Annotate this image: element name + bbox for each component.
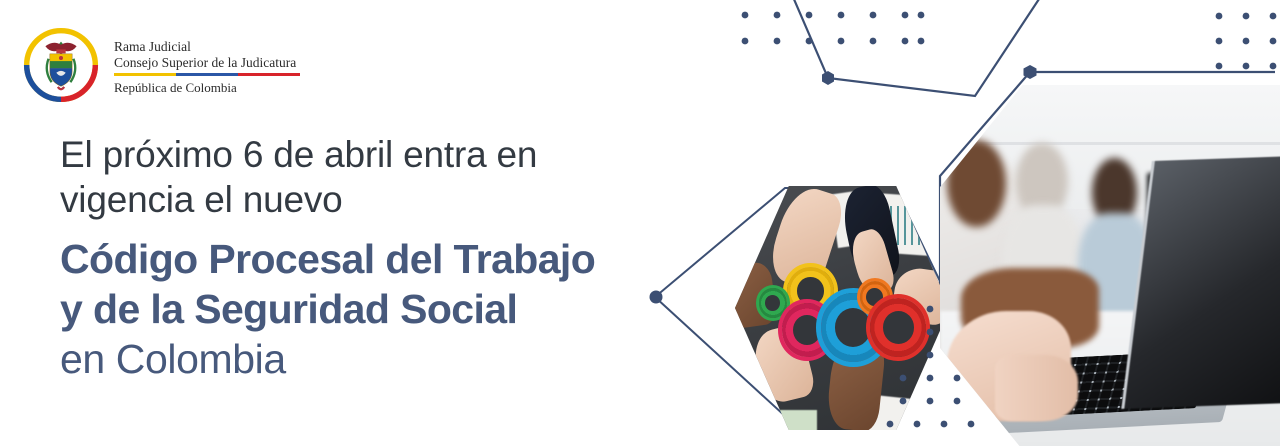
- logo-line-consejo: Consejo Superior de la Judicatura: [114, 55, 300, 71]
- hexagon-node-marker: [822, 71, 834, 85]
- gear-green: [759, 288, 787, 317]
- logo-tricolor-rule: [114, 73, 300, 76]
- headline-bold-line-2: y de la Seguridad Social: [60, 284, 700, 334]
- logo-line-republica: República de Colombia: [114, 80, 300, 96]
- headline-block: El próximo 6 de abril entra en vigencia …: [60, 132, 700, 384]
- hexagon-node-marker-right: [1024, 65, 1037, 79]
- banner-root: Rama Judicial Consejo Superior de la Jud…: [0, 0, 1280, 446]
- headline-regular-line-3: en Colombia: [60, 334, 700, 384]
- teamwork-gears-hands-photo: [735, 186, 950, 430]
- logo-text-block: Rama Judicial Consejo Superior de la Jud…: [114, 35, 300, 95]
- gear-red: [870, 298, 926, 357]
- office-laptop-typing-photo: [940, 85, 1280, 446]
- dot-grid-top-right: [1216, 13, 1277, 95]
- headline-lead-line-2: vigencia el nuevo: [60, 177, 700, 222]
- colombia-coat-of-arms-emblem: [22, 26, 100, 104]
- headline-bold-line-1: Código Procesal del Trabajo: [60, 234, 700, 284]
- rama-judicial-logo[interactable]: Rama Judicial Consejo Superior de la Jud…: [22, 26, 300, 104]
- hexagon-outline-top: [760, 0, 1045, 96]
- headline-lead-line-1: El próximo 6 de abril entra en: [60, 132, 700, 177]
- dot-grid-top-center: [742, 12, 925, 45]
- logo-line-rama-judicial: Rama Judicial: [114, 39, 300, 55]
